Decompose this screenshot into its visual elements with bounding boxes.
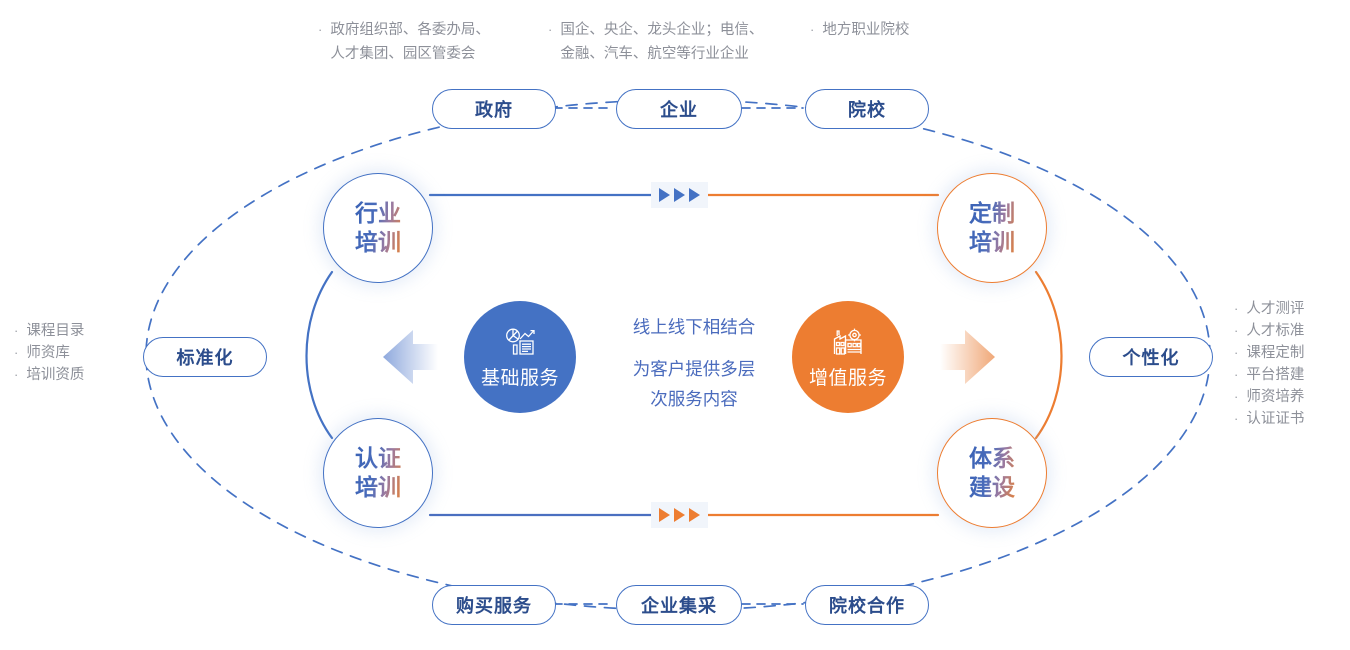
bullet-dot: ·: [318, 18, 322, 42]
node-label: 行业 培训: [355, 199, 401, 257]
note-line: 人才集团、园区管委会: [330, 42, 490, 66]
right-orange-arc: [1036, 272, 1062, 438]
badge-label: 企业: [660, 96, 698, 122]
triangle-right-icon: [689, 508, 700, 522]
badge-purchase-service[interactable]: 购买服务: [432, 585, 556, 625]
node-label: 体系 建设: [969, 444, 1015, 502]
badge-label: 购买服务: [456, 592, 532, 618]
left-bullet-list: · 课程目录 · 师资库 · 培训资质: [14, 320, 84, 386]
center-description-line2: 为客户提供多层: [614, 354, 774, 384]
list-item-label: 课程目录: [26, 320, 84, 342]
core-label: 基础服务: [481, 363, 559, 390]
left-big-arrow-icon: [383, 330, 438, 384]
bullet-dot: ·: [14, 342, 18, 364]
badge-label: 政府: [475, 96, 513, 122]
bottom-triple-arrow-icon: [651, 502, 708, 528]
list-item: · 人才标准: [1234, 320, 1304, 342]
list-item: · 课程定制: [1234, 342, 1304, 364]
triangle-right-icon: [674, 188, 685, 202]
node-industry-training[interactable]: 行业 培训: [323, 173, 433, 283]
node-label-line2: 培训: [355, 228, 401, 257]
core-basic-service[interactable]: 基础服务: [464, 301, 576, 413]
badge-label: 个性化: [1123, 344, 1180, 370]
triangle-right-icon: [659, 508, 670, 522]
list-item: · 师资库: [14, 342, 84, 364]
list-item: · 认证证书: [1234, 408, 1304, 430]
bullet-dot: ·: [1234, 342, 1238, 364]
badge-school[interactable]: 院校: [805, 89, 929, 129]
bullet-dot: ·: [1234, 386, 1238, 408]
top-note-school: · 地方职业院校: [810, 18, 990, 66]
top-triple-arrow-icon: [651, 182, 708, 208]
bullet-dot: ·: [1234, 320, 1238, 342]
list-item-label: 师资培养: [1246, 386, 1304, 408]
list-item-label: 师资库: [26, 342, 70, 364]
badge-standardization[interactable]: 标准化: [143, 337, 267, 377]
triangle-right-icon: [689, 188, 700, 202]
right-bullet-list: · 人才测评 · 人才标准 · 课程定制 · 平台搭建 · 师资培养 · 认证证…: [1234, 298, 1304, 430]
badge-government[interactable]: 政府: [432, 89, 556, 129]
top-note-government: · 政府组织部、各委办局、 人才集团、园区管委会: [318, 18, 548, 66]
badge-label: 院校合作: [829, 592, 905, 618]
node-certification-training[interactable]: 认证 培训: [323, 418, 433, 528]
node-label: 认证 培训: [355, 444, 401, 502]
left-blue-arc: [307, 272, 333, 438]
factory-building-icon: [832, 325, 864, 359]
triangle-right-icon: [674, 508, 685, 522]
note-line: 政府组织部、各委办局、: [330, 18, 490, 42]
node-system-construction[interactable]: 体系 建设: [937, 418, 1047, 528]
note-line: 国企、央企、龙头企业；电信、: [560, 18, 763, 42]
node-label-line2: 建设: [969, 473, 1015, 502]
badge-label: 标准化: [177, 344, 234, 370]
top-note-enterprise: · 国企、央企、龙头企业；电信、 金融、汽车、航空等行业企业: [548, 18, 810, 66]
bullet-dot: ·: [1234, 298, 1238, 320]
note-line: 金融、汽车、航空等行业企业: [560, 42, 763, 66]
badge-label: 企业集采: [641, 592, 717, 618]
node-label: 定制 培训: [969, 199, 1015, 257]
note-line: 地方职业院校: [822, 18, 909, 42]
list-item-label: 课程定制: [1246, 342, 1304, 364]
bullet-dot: ·: [810, 18, 814, 42]
list-item: · 课程目录: [14, 320, 84, 342]
node-label-line2: 培训: [355, 473, 401, 502]
node-label-line1: 定制: [969, 199, 1015, 228]
center-description-line3: 次服务内容: [614, 384, 774, 414]
list-item: · 人才测评: [1234, 298, 1304, 320]
triangle-right-icon: [659, 188, 670, 202]
badge-personalization[interactable]: 个性化: [1089, 337, 1213, 377]
bullet-dot: ·: [14, 320, 18, 342]
node-label-line1: 行业: [355, 199, 401, 228]
node-label-line1: 体系: [969, 444, 1015, 473]
list-item-label: 人才测评: [1246, 298, 1304, 320]
bullet-dot: ·: [14, 364, 18, 386]
list-item: · 师资培养: [1234, 386, 1304, 408]
center-description-line1: 线上线下相结合: [614, 312, 774, 342]
badge-label: 院校: [848, 96, 886, 122]
diagram-canvas: · 政府组织部、各委办局、 人才集团、园区管委会 · 国企、央企、龙头企业；电信…: [0, 0, 1350, 650]
bullet-dot: ·: [1234, 364, 1238, 386]
bullet-dot: ·: [548, 18, 552, 42]
badge-enterprise-procurement[interactable]: 企业集采: [616, 585, 742, 625]
list-item-label: 人才标准: [1246, 320, 1304, 342]
list-item-label: 认证证书: [1246, 408, 1304, 430]
badge-enterprise[interactable]: 企业: [616, 89, 742, 129]
right-big-arrow-icon: [940, 330, 995, 384]
core-label: 增值服务: [809, 363, 887, 390]
node-label-line1: 认证: [355, 444, 401, 473]
list-item-label: 平台搭建: [1246, 364, 1304, 386]
top-notes: · 政府组织部、各委办局、 人才集团、园区管委会 · 国企、央企、龙头企业；电信…: [318, 18, 1018, 66]
badge-school-cooperation[interactable]: 院校合作: [805, 585, 929, 625]
list-item: · 培训资质: [14, 364, 84, 386]
center-description: 线上线下相结合 为客户提供多层 次服务内容: [614, 312, 774, 414]
list-item: · 平台搭建: [1234, 364, 1304, 386]
core-value-added-service[interactable]: 增值服务: [792, 301, 904, 413]
chart-document-icon: [504, 325, 536, 359]
list-item-label: 培训资质: [26, 364, 84, 386]
bullet-dot: ·: [1234, 408, 1238, 430]
node-label-line2: 培训: [969, 228, 1015, 257]
node-custom-training[interactable]: 定制 培训: [937, 173, 1047, 283]
